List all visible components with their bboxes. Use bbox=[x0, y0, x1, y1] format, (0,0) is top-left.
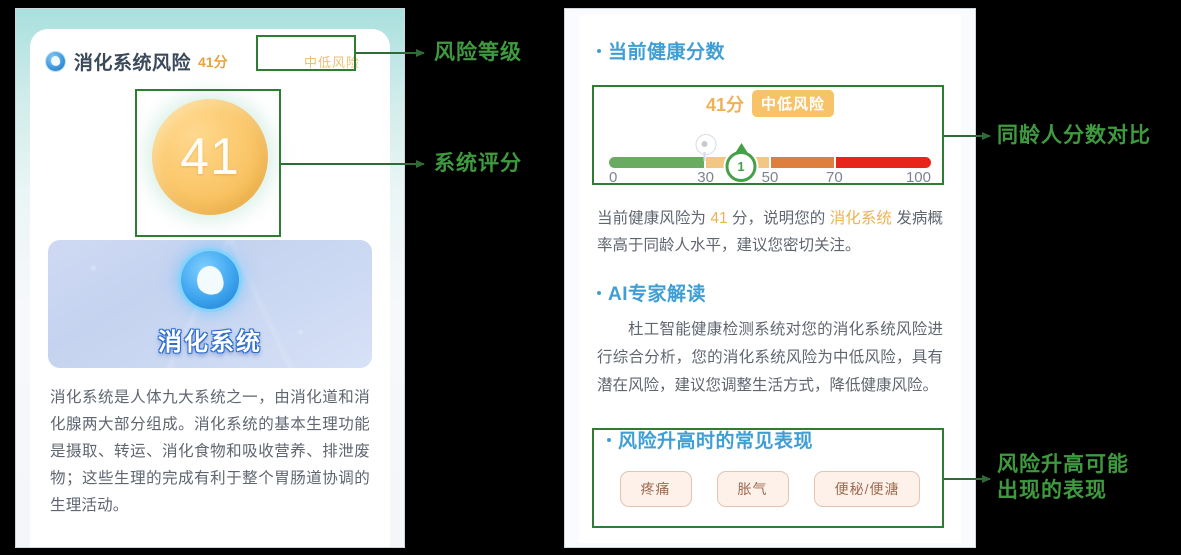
explanation-organ: 消化系统 bbox=[830, 210, 892, 227]
system-description: 消化系统是人体九大系统之一，由消化道和消化腺两大部分组成。消化系统的基本生理功能… bbox=[50, 384, 370, 519]
arrow-possible-symptoms bbox=[944, 478, 990, 480]
annotation-possible-symptoms: 风险升高可能 出现的表现 bbox=[997, 452, 1129, 504]
risk-gauge: 1 0 30 50 70 100 bbox=[609, 135, 931, 183]
symptom-box: 风险升高时的常见表现 疼痛 胀气 便秘/便溏 bbox=[595, 414, 945, 523]
card-header: 消化系统风险 41分 中低风险 bbox=[30, 29, 390, 76]
system-banner: 消化系统 bbox=[48, 240, 372, 368]
gauge-segment-mid-high bbox=[771, 157, 834, 168]
bullet-icon bbox=[597, 291, 601, 295]
stomach-circle-icon bbox=[46, 52, 65, 71]
gauge-tick: 50 bbox=[762, 169, 779, 186]
section-label: 当前健康分数 bbox=[608, 37, 725, 64]
score-summary: 41分 中低风险 bbox=[609, 90, 931, 117]
ai-interpretation-text: 杜工智能健康检测系统对您的消化系统风险进行综合分析，您的消化系统风险为中低风险，… bbox=[597, 316, 943, 400]
annotation-system-score: 系统评分 bbox=[434, 151, 522, 177]
left-phone-panel: 消化系统风险 41分 中低风险 41 消化系统 消化系统是人体九大系统之一，由消… bbox=[16, 9, 404, 547]
stomach-icon bbox=[181, 251, 239, 309]
gauge-bar bbox=[609, 157, 931, 168]
arrow-risk-level bbox=[356, 52, 424, 54]
explanation-mid: 分，说明您的 bbox=[728, 210, 830, 227]
header-score: 41分 bbox=[198, 52, 228, 72]
arrow-system-score bbox=[281, 163, 424, 165]
score-explanation: 当前健康风险为 41 分，说明您的 消化系统 发病概率高于同龄人水平，建议您密切… bbox=[597, 205, 943, 259]
symptom-tag[interactable]: 便秘/便溏 bbox=[814, 471, 921, 507]
explanation-prefix: 当前健康风险为 bbox=[597, 210, 710, 227]
screenshot-stage: 消化系统风险 41分 中低风险 41 消化系统 消化系统是人体九大系统之一，由消… bbox=[0, 0, 1181, 555]
symptom-tag[interactable]: 胀气 bbox=[717, 471, 789, 507]
gray-pin-icon bbox=[695, 134, 716, 155]
bullet-icon bbox=[597, 49, 601, 53]
system-banner-label: 消化系统 bbox=[158, 322, 262, 357]
gauge-ticks: 0 30 50 70 100 bbox=[609, 169, 931, 189]
explanation-score: 41 bbox=[710, 210, 727, 227]
section-title-ai: AI专家解读 bbox=[597, 279, 961, 306]
digestive-risk-card: 消化系统风险 41分 中低风险 41 消化系统 消化系统是人体九大系统之一，由消… bbox=[30, 29, 390, 547]
section-label: 风险升高时的常见表现 bbox=[618, 426, 813, 453]
gauge-segment-low bbox=[609, 157, 704, 168]
gauge-tick: 30 bbox=[697, 169, 714, 186]
annotation-risk-level: 风险等级 bbox=[434, 40, 522, 66]
score-dial: 41 bbox=[152, 99, 268, 215]
page-title: 消化系统风险 bbox=[74, 48, 191, 75]
score-dial-value: 41 bbox=[180, 127, 240, 187]
symptom-tag-list: 疼痛 胀气 便秘/便溏 bbox=[607, 471, 933, 507]
symptom-tag[interactable]: 疼痛 bbox=[620, 471, 692, 507]
score-points: 41分 bbox=[706, 91, 744, 117]
score-gauge-box: 41分 中低风险 1 bbox=[595, 76, 945, 193]
section-title-current-score: 当前健康分数 bbox=[597, 37, 961, 64]
health-detail-card: 当前健康分数 41分 中低风险 bbox=[579, 15, 961, 543]
score-risk-tag: 中低风险 bbox=[752, 90, 834, 117]
section-label: AI专家解读 bbox=[608, 279, 706, 306]
right-phone-panel: 当前健康分数 41分 中低风险 bbox=[565, 9, 975, 547]
gauge-tick: 70 bbox=[826, 169, 843, 186]
section-title-symptoms: 风险升高时的常见表现 bbox=[607, 426, 933, 453]
score-dial-area: 41 bbox=[30, 82, 390, 232]
bullet-icon bbox=[607, 438, 611, 442]
annotation-peer-compare: 同龄人分数对比 bbox=[997, 123, 1151, 149]
gauge-segment-high bbox=[836, 157, 931, 168]
arrow-peer-compare bbox=[944, 135, 990, 137]
gauge-tick: 0 bbox=[609, 169, 617, 186]
peer-average-marker bbox=[695, 134, 716, 155]
gauge-tick: 100 bbox=[906, 169, 931, 186]
